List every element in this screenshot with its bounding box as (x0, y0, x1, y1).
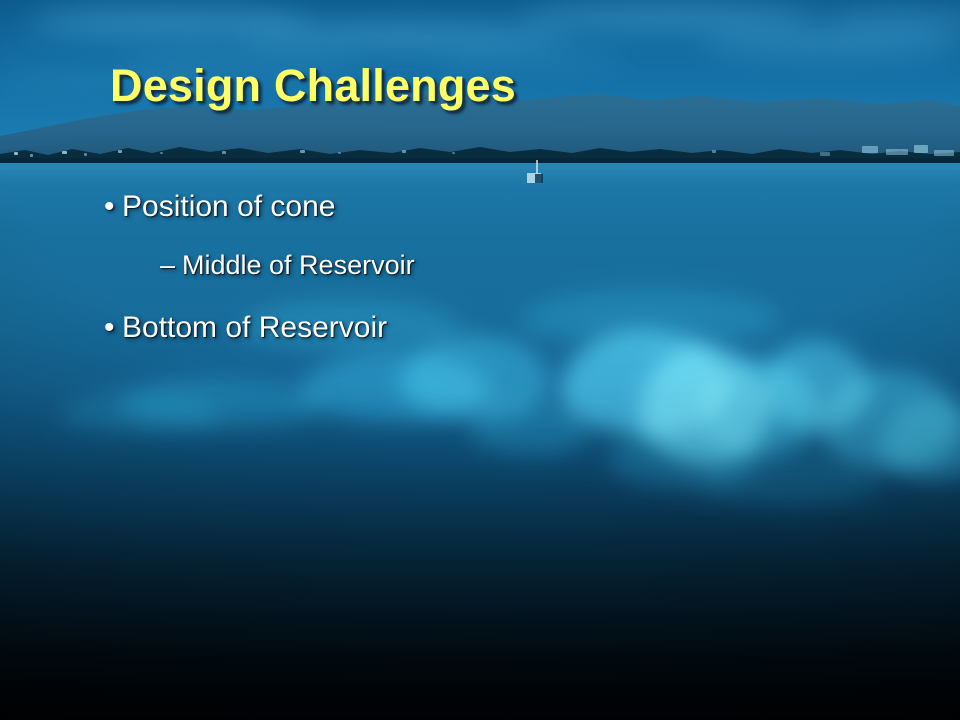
cloud (520, 2, 820, 32)
bullet-item: • Position of cone (104, 190, 884, 224)
shore-building (862, 146, 878, 153)
bullet-item: – Middle of Reservoir (160, 250, 884, 281)
shore-light (14, 152, 18, 155)
bullet-label: Middle of Reservoir (182, 250, 415, 281)
shore-building (820, 152, 830, 156)
shore-light (118, 150, 122, 153)
shore-light (338, 152, 341, 154)
shore-building (886, 149, 908, 155)
water-reflection (700, 452, 880, 507)
slide-body: • Position of cone – Middle of Reservoir… (104, 190, 884, 371)
buoy-mast (536, 160, 538, 174)
bullet-label: Bottom of Reservoir (122, 311, 387, 345)
shore-light (30, 154, 33, 157)
buoy-shadow (535, 174, 543, 183)
bullet-item: • Bottom of Reservoir (104, 311, 884, 345)
shore-light (222, 151, 226, 154)
cloud (700, 30, 960, 56)
presentation-slide: Design Challenges • Position of cone – M… (0, 0, 960, 720)
shore-light (84, 153, 87, 156)
shore-light (712, 150, 716, 153)
shore-light (160, 152, 163, 154)
shore-building (934, 150, 954, 156)
shore-light (62, 151, 67, 154)
water-band (0, 183, 960, 184)
shore-building (914, 145, 928, 153)
cloud (240, 22, 570, 50)
dash-marker-icon: – (160, 252, 182, 279)
shore-light (300, 150, 305, 153)
shore-light (452, 152, 455, 154)
water-band (0, 174, 960, 175)
shore-light (402, 150, 406, 153)
bullet-marker-icon: • (104, 313, 122, 343)
water-reflection (60, 392, 220, 432)
water-band (0, 168, 960, 169)
bullet-label: Position of cone (122, 190, 335, 224)
water-reflection (470, 400, 590, 455)
slide-title: Design Challenges (110, 60, 516, 112)
bullet-marker-icon: • (104, 192, 122, 222)
